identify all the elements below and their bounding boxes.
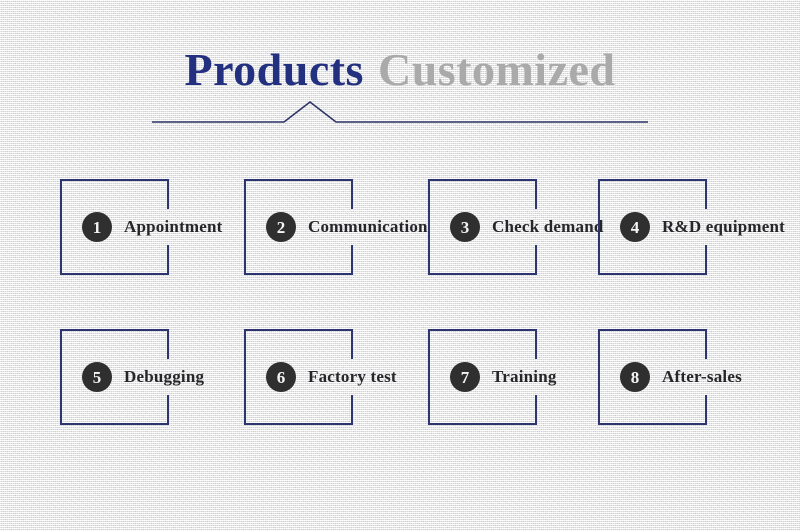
steps-grid: 1 Appointment 2 Communication 3 Check de… <box>0 0 800 531</box>
step-content: 4 R&D equipment <box>620 179 785 275</box>
step-number-badge: 8 <box>620 362 650 392</box>
step-number-badge: 2 <box>266 212 296 242</box>
step-label: Check demand <box>492 217 604 237</box>
slide-content: ProductsCustomized 1 Appointment 2 <box>0 0 800 531</box>
step-content: 8 After-sales <box>620 329 742 425</box>
step-number-badge: 4 <box>620 212 650 242</box>
step-label: After-sales <box>662 367 742 387</box>
step-content: 7 Training <box>450 329 557 425</box>
step-number-badge: 7 <box>450 362 480 392</box>
step-number-badge: 6 <box>266 362 296 392</box>
step-label: Debugging <box>124 367 204 387</box>
step-content: 1 Appointment <box>82 179 223 275</box>
step-number-badge: 3 <box>450 212 480 242</box>
step-label: Training <box>492 367 557 387</box>
step-label: Communication <box>308 217 428 237</box>
step-content: 2 Communication <box>266 179 428 275</box>
step-number-badge: 5 <box>82 362 112 392</box>
step-label: Appointment <box>124 217 223 237</box>
step-number-badge: 1 <box>82 212 112 242</box>
step-content: 6 Factory test <box>266 329 397 425</box>
step-label: R&D equipment <box>662 217 785 237</box>
step-content: 5 Debugging <box>82 329 204 425</box>
step-content: 3 Check demand <box>450 179 604 275</box>
step-label: Factory test <box>308 367 397 387</box>
slide-canvas: ProductsCustomized 1 Appointment 2 <box>0 0 800 531</box>
